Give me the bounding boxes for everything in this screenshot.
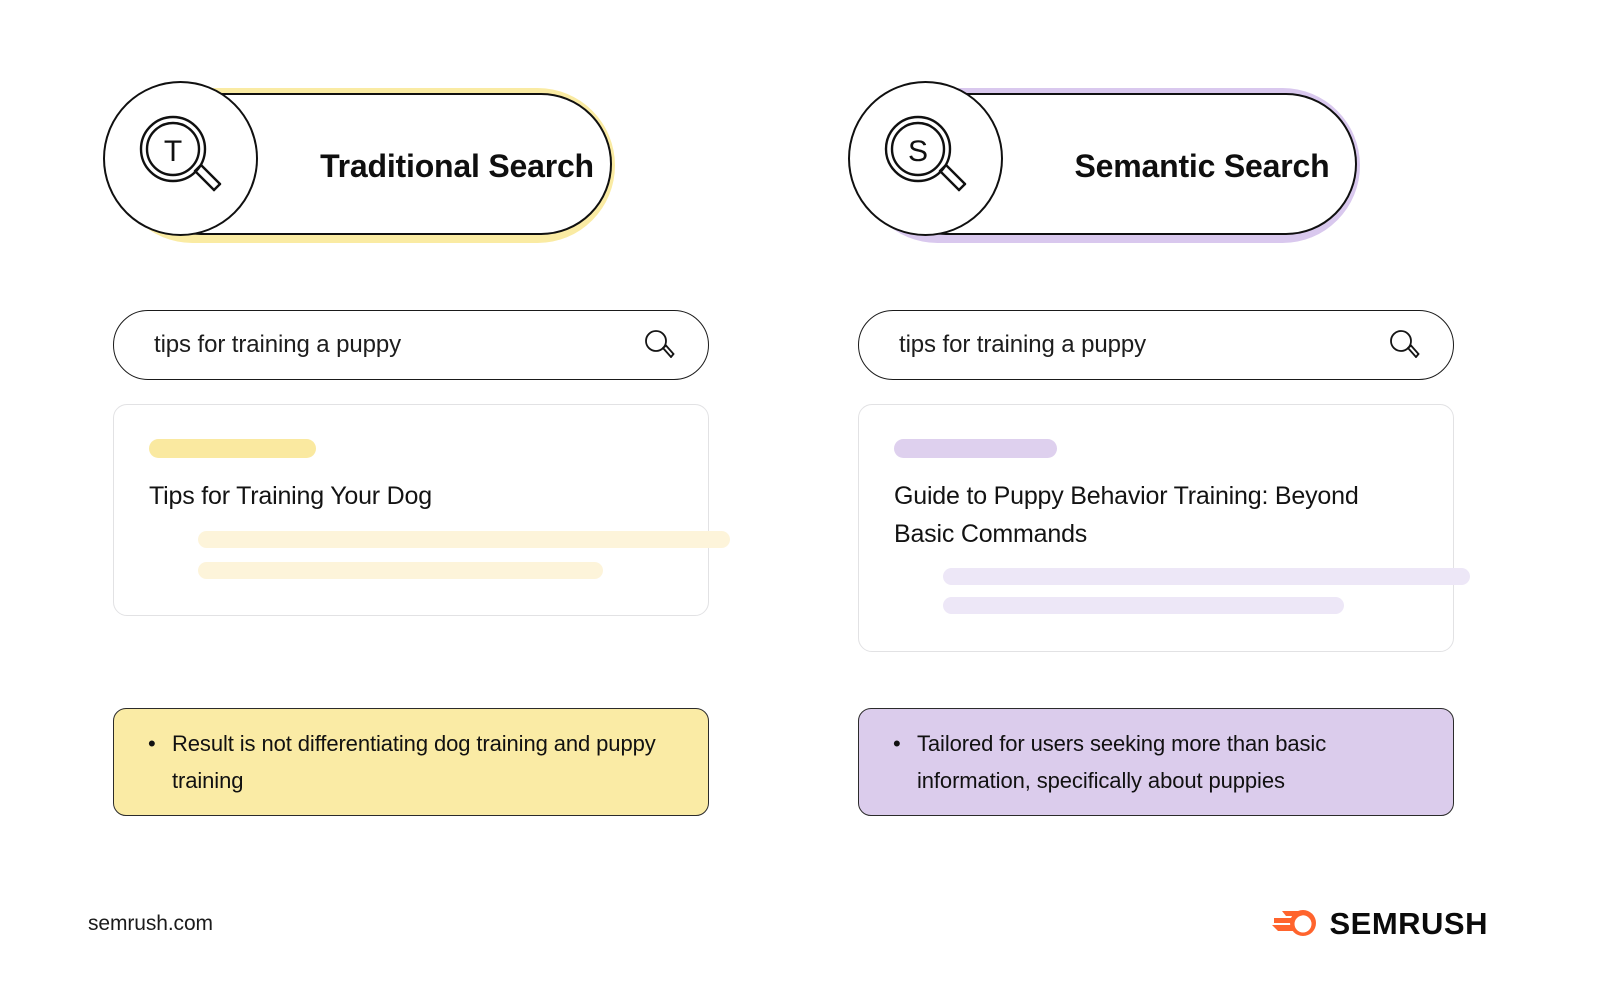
icon-letter: S (907, 135, 927, 168)
footer-site-url: semrush.com (88, 912, 213, 936)
callout-bullet: Tailored for users seeking more than bas… (917, 725, 1419, 799)
header-pill-traditional: Traditional Search T (115, 88, 615, 243)
callout-traditional: Result is not differentiating dog traini… (113, 708, 709, 816)
search-query-text: tips for training a puppy (899, 331, 1387, 359)
search-query-text: tips for training a puppy (154, 331, 642, 359)
header-pill-semantic: Semantic Search S (860, 88, 1360, 243)
url-placeholder-bar (149, 439, 316, 458)
callout-semantic: Tailored for users seeking more than bas… (858, 708, 1454, 816)
pill-title-traditional: Traditional Search (307, 95, 607, 237)
search-input-semantic[interactable]: tips for training a puppy (858, 310, 1454, 380)
search-input-traditional[interactable]: tips for training a puppy (113, 310, 709, 380)
search-icon[interactable] (642, 328, 676, 362)
callout-list: Tailored for users seeking more than bas… (859, 725, 1453, 799)
result-title: Guide to Puppy Behavior Training: Beyond… (894, 477, 1414, 553)
url-placeholder-bar (894, 439, 1057, 458)
description-placeholder-bar-2 (943, 597, 1344, 614)
description-placeholder-bar-1 (943, 568, 1470, 585)
column-traditional-search: Traditional Search T tips for training a… (85, 0, 785, 988)
result-title: Tips for Training Your Dog (149, 477, 669, 515)
semrush-logo: SEMRUSH (1272, 906, 1488, 940)
result-card-semantic[interactable]: Guide to Puppy Behavior Training: Beyond… (858, 404, 1454, 652)
callout-bullet: Result is not differentiating dog traini… (172, 725, 674, 799)
description-placeholder-bar-2 (198, 562, 603, 579)
description-placeholder-bar-1 (198, 531, 730, 548)
icon-letter: T (163, 135, 181, 168)
magnifier-s-icon: S (848, 81, 1003, 236)
search-icon[interactable] (1387, 328, 1421, 362)
column-semantic-search: Semantic Search S tips for training a pu… (830, 0, 1530, 988)
semrush-wordmark: SEMRUSH (1329, 908, 1488, 939)
semrush-comet-icon (1272, 906, 1318, 940)
infographic-canvas: Traditional Search T tips for training a… (0, 0, 1600, 988)
callout-list: Result is not differentiating dog traini… (114, 725, 708, 799)
magnifier-t-icon: T (103, 81, 258, 236)
pill-title-semantic: Semantic Search (1052, 95, 1352, 237)
result-card-traditional[interactable]: Tips for Training Your Dog (113, 404, 709, 616)
